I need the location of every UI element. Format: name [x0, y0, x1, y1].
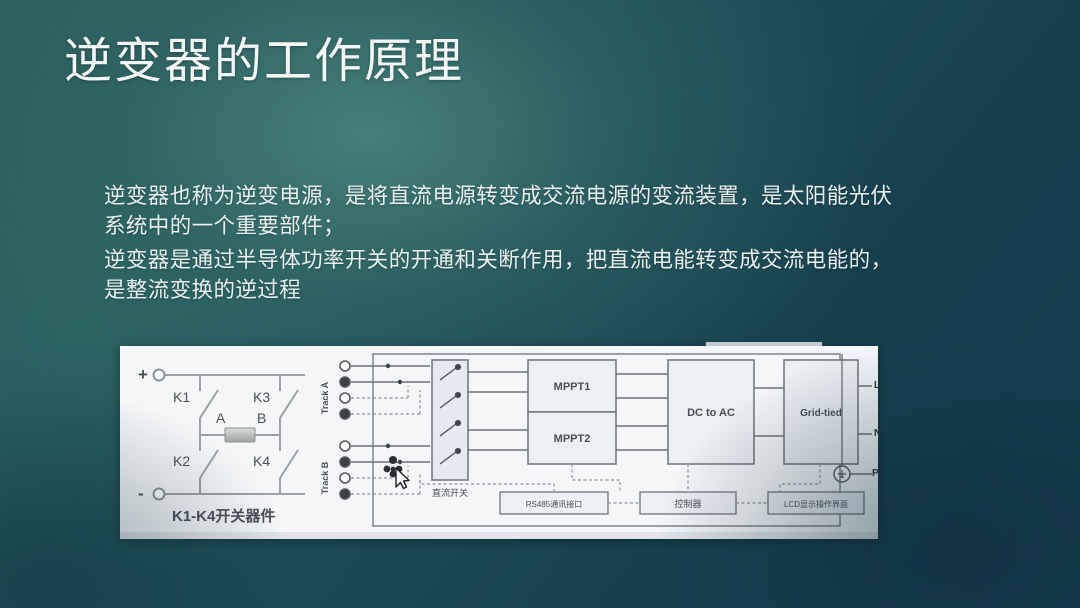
- ground-symbol-layer: [120, 346, 878, 539]
- inverter-diagram-image: + - K1 K3 K2: [120, 346, 878, 539]
- mouse-cursor-icon: [136, 458, 170, 492]
- paragraph-2: 逆变器是通过半导体功率开关的开通和关断作用，把直流电能转变成交流电能的，是整流变…: [104, 245, 894, 305]
- paragraph-1: 逆变器也称为逆变电源，是将直流电源转变成交流电源的变流装置，是太阳能光伏系统中的…: [104, 181, 894, 241]
- page-title: 逆变器的工作原理: [64, 32, 464, 92]
- cursor-move-icon: [382, 454, 418, 490]
- slide-canvas: 逆变器的工作原理 逆变器也称为逆变电源，是将直流电源转变成交流电源的变流装置，是…: [0, 0, 1080, 608]
- body-text-block: 逆变器也称为逆变电源，是将直流电源转变成交流电源的变流装置，是太阳能光伏系统中的…: [104, 181, 894, 305]
